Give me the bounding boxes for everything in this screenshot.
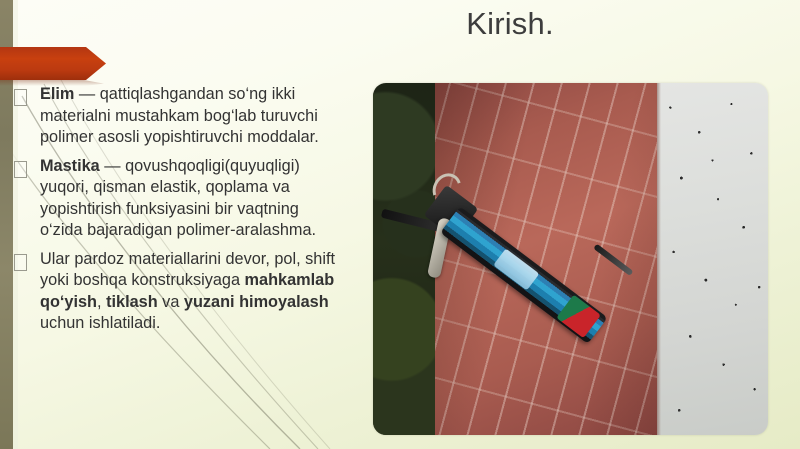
bullet-body-1: — qattiqlashgandan so‘ng ikki materialni… [40,85,319,146]
red-arrow-banner [0,47,106,80]
box-bullet-icon [14,254,27,271]
brick-wall-region [421,83,664,435]
box-bullet-icon [14,89,27,106]
concrete-panel-edge [657,83,661,435]
box-bullet-icon [14,161,27,178]
slide-photo [373,83,768,435]
bullet-text-2: Mastika — qovushqoqligi(quyuqligi) yuqor… [40,156,344,242]
bullet-list: Elim — qattiqlashgandan so‘ng ikki mater… [14,84,344,342]
presentation-slide: Kirish. Elim — qattiqlashgandan so‘ng ik… [0,0,800,449]
bullet-lead-2: Mastika [40,157,100,175]
bullet-text-1: Elim — qattiqlashgandan so‘ng ikki mater… [40,84,344,149]
bullet-body-3: Ular pardoz materiallarini devor, pol, s… [40,250,335,333]
bullet-lead-1: Elim [40,85,74,103]
list-item: Mastika — qovushqoqligi(quyuqligi) yuqor… [14,156,344,242]
list-item: Ular pardoz materiallarini devor, pol, s… [14,249,344,335]
brick-shading [421,83,664,435]
list-item: Elim — qattiqlashgandan so‘ng ikki mater… [14,84,344,149]
slide-title: Kirish. [300,4,720,44]
bullet-text-3: Ular pardoz materiallarini devor, pol, s… [40,249,344,335]
photo-content [373,83,768,435]
foliage-region [373,83,435,435]
concrete-panel-region [657,83,768,435]
